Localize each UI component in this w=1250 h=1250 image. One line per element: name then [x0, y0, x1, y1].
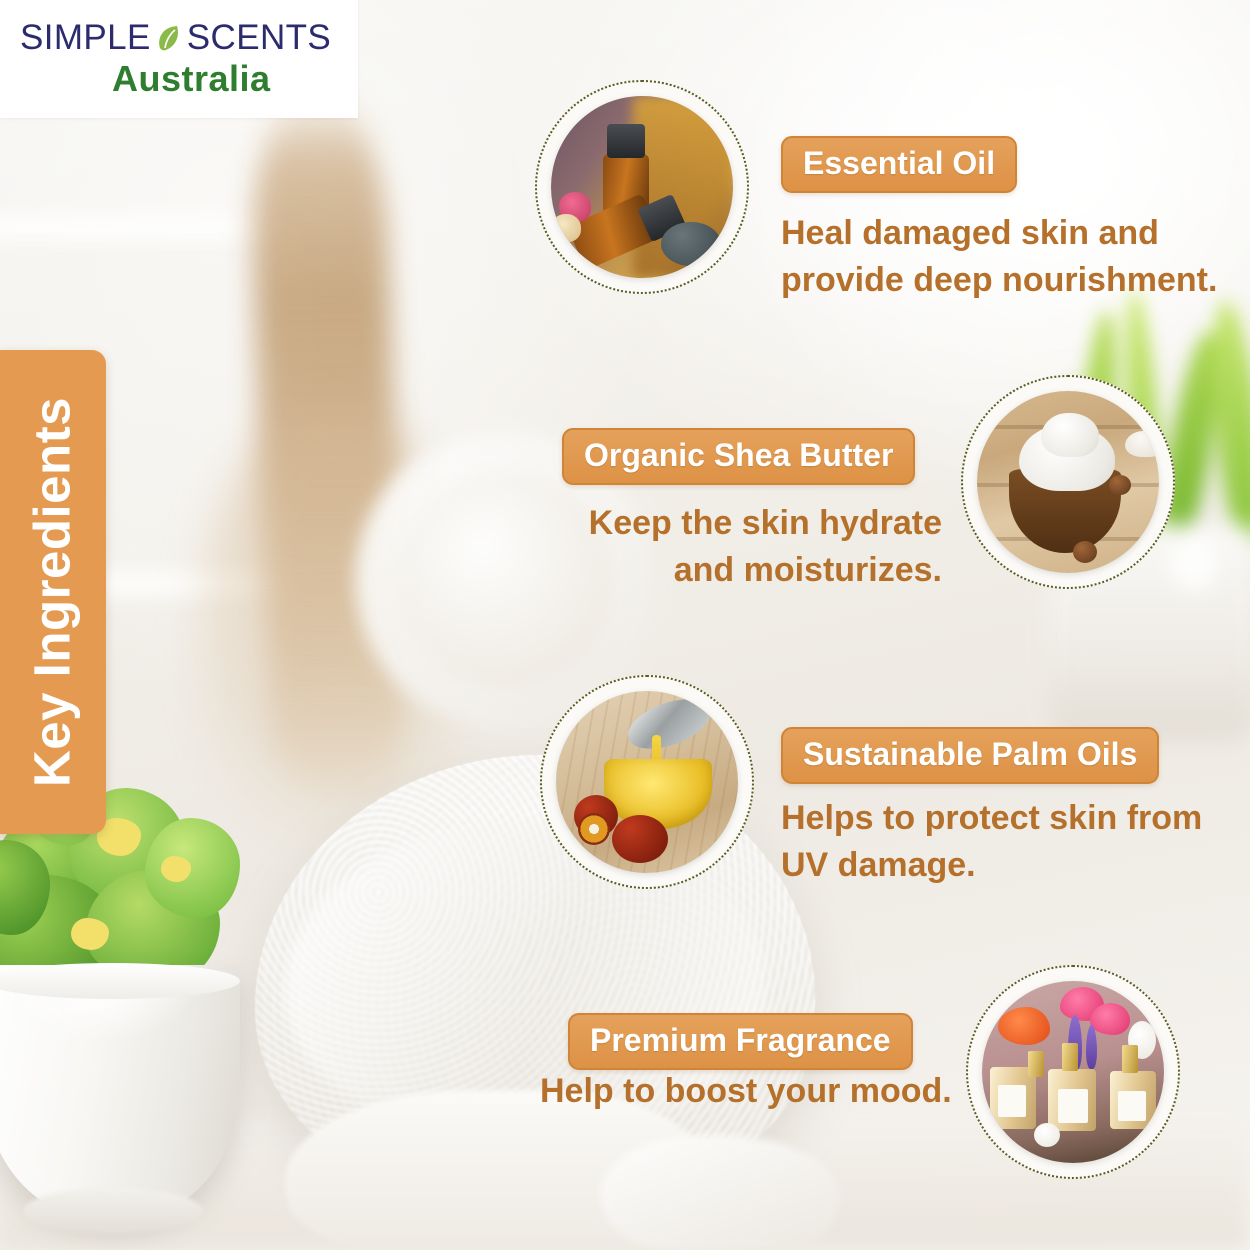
infographic-page: SIMPLE SCENTS Australia Key Ingredients: [0, 0, 1250, 1250]
essential-oil-description: Heal damaged skin and provide deep nouri…: [781, 210, 1231, 304]
logo-word-simple: SIMPLE: [20, 18, 151, 57]
towel-tail: [600, 1135, 840, 1250]
logo-subtitle: Australia: [112, 58, 271, 100]
logo-word-scents: SCENTS: [187, 18, 331, 57]
essential-oil-image-circle: [535, 80, 749, 294]
shea-butter-description: Keep the skin hydrate and moisturizes.: [442, 500, 942, 594]
shea-butter-image-circle: [961, 375, 1175, 589]
fragrance-description: Help to boost your mood.: [540, 1068, 1000, 1115]
plant-pot-base: [23, 1188, 203, 1234]
shea-butter-badge: Organic Shea Butter: [562, 428, 915, 485]
logo-wordmark: SIMPLE SCENTS: [20, 18, 340, 58]
plant-pot: [0, 965, 240, 1220]
potted-plant-foreground: [0, 770, 295, 1250]
palm-oil-image-circle: [540, 675, 754, 889]
essential-oil-badge: Essential Oil: [781, 136, 1017, 193]
fragrance-badge: Premium Fragrance: [568, 1013, 913, 1070]
key-ingredients-tab: Key Ingredients: [0, 350, 106, 834]
key-ingredients-label: Key Ingredients: [23, 397, 82, 787]
palm-oil-description: Helps to protect skin from UV damage.: [781, 795, 1231, 889]
brand-logo: SIMPLE SCENTS Australia: [0, 0, 358, 118]
palm-oil-badge: Sustainable Palm Oils: [781, 727, 1159, 784]
leaf-icon: [152, 21, 186, 55]
